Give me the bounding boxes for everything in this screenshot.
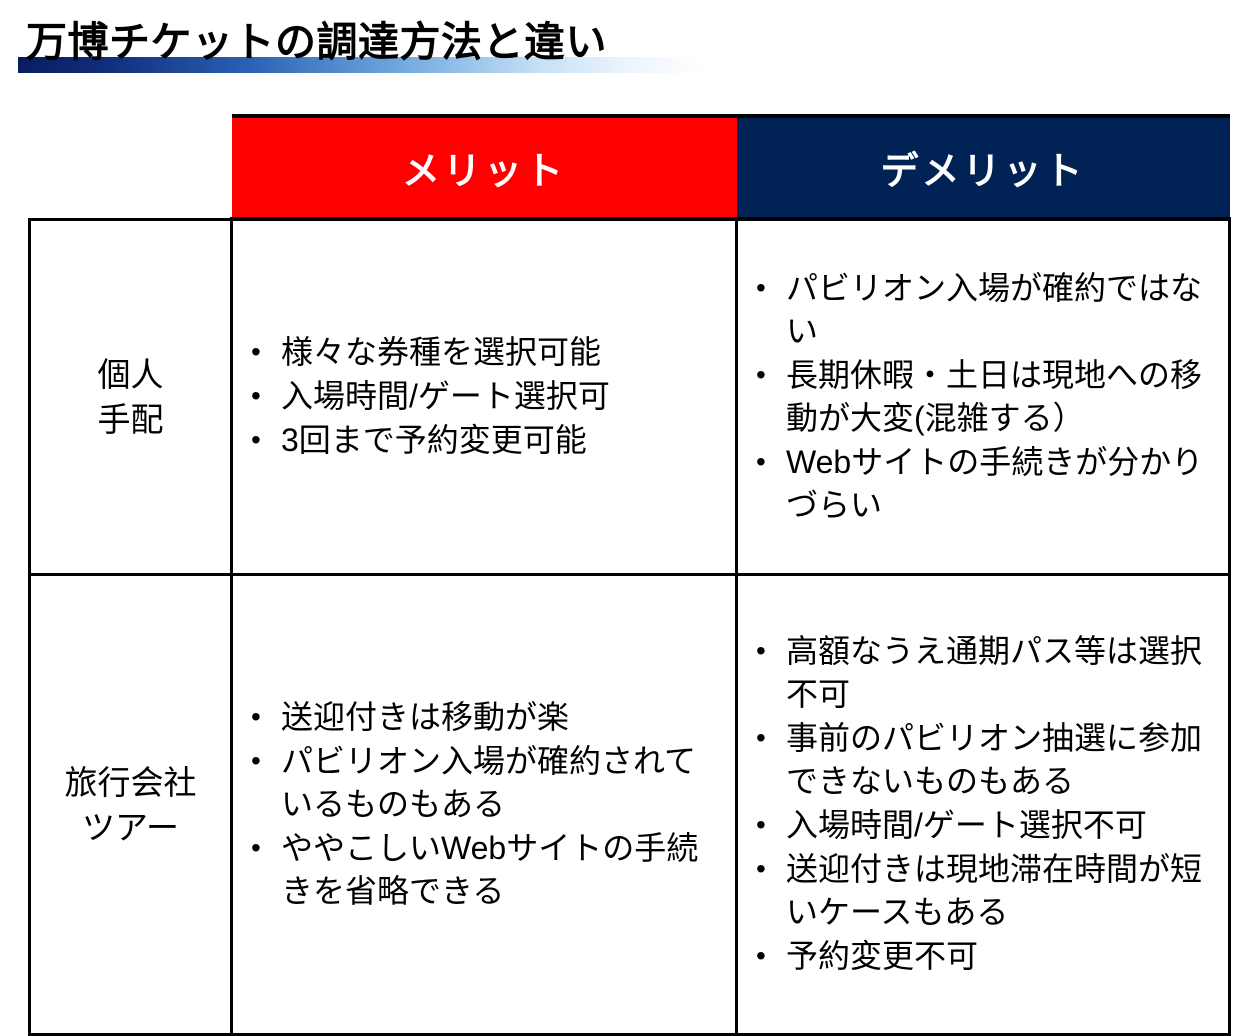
row-demerits-agency-tour: 高額なうえ通期パス等は選択不可 事前のパビリオン抽選に参加できないものもある 入… <box>737 575 1230 1035</box>
row-demerits-personal: パビリオン入場が確約ではない 長期休暇・土日は現地への移動が大変(混雑する） W… <box>737 219 1230 575</box>
slide-title-block: 万博チケットの調達方法と違い <box>0 0 1244 100</box>
list-item: 入場時間/ゲート選択不可 <box>752 804 1218 847</box>
row-merits-agency-tour: 送迎付きは移動が楽 パビリオン入場が確約されているものもある ややこしいWebサ… <box>232 575 737 1035</box>
list-item: 送迎付きは移動が楽 <box>247 696 725 739</box>
list-item: 高額なうえ通期パス等は選択不可 <box>752 630 1218 716</box>
list-item: ややこしいWebサイトの手続きを省略できる <box>247 827 725 913</box>
list-item: 長期休暇・土日は現地への移動が大変(混雑する） <box>752 354 1218 440</box>
list-item: Webサイトの手続きが分かりづらい <box>752 441 1218 527</box>
page-title: 万博チケットの調達方法と違い <box>26 18 607 66</box>
list-item: 送迎付きは現地滞在時間が短いケースもある <box>752 848 1218 934</box>
row-merits-personal: 様々な券種を選択可能 入場時間/ゲート選択可 3回まで予約変更可能 <box>232 219 737 575</box>
list-item: 入場時間/ゲート選択可 <box>247 375 725 418</box>
list-item: パビリオン入場が確約されているものもある <box>247 740 725 826</box>
table-row: 旅行会社 ツアー 送迎付きは移動が楽 パビリオン入場が確約されているものもある … <box>30 575 1230 1035</box>
row-label-personal: 個人 手配 <box>30 219 232 575</box>
row-label-agency-tour: 旅行会社 ツアー <box>30 575 232 1035</box>
list-item: 3回まで予約変更可能 <box>247 419 725 462</box>
header-blank-cell <box>30 116 232 219</box>
row-label-line: ツアー <box>31 805 230 850</box>
merit-bullet-list: 送迎付きは移動が楽 パビリオン入場が確約されているものもある ややこしいWebサ… <box>233 696 735 913</box>
row-label-line: 旅行会社 <box>31 760 230 805</box>
merit-bullet-list: 様々な券種を選択可能 入場時間/ゲート選択可 3回まで予約変更可能 <box>233 331 735 462</box>
table-row: 個人 手配 様々な券種を選択可能 入場時間/ゲート選択可 3回まで予約変更可能 … <box>30 219 1230 575</box>
list-item: 様々な券種を選択可能 <box>247 331 725 374</box>
row-label-line: 個人 <box>31 352 230 397</box>
list-item: 予約変更不可 <box>752 935 1218 978</box>
comparison-table: メリット デメリット 個人 手配 様々な券種を選択可能 入場時間/ゲート選択可 … <box>28 114 1231 1036</box>
list-item: 事前のパビリオン抽選に参加できないものもある <box>752 717 1218 803</box>
demerit-bullet-list: 高額なうえ通期パス等は選択不可 事前のパビリオン抽選に参加できないものもある 入… <box>738 630 1228 978</box>
header-merit-cell: メリット <box>232 116 737 219</box>
table-header-row: メリット デメリット <box>30 116 1230 219</box>
row-label-line: 手配 <box>31 397 230 442</box>
header-demerit-cell: デメリット <box>737 116 1230 219</box>
demerit-bullet-list: パビリオン入場が確約ではない 長期休暇・土日は現地への移動が大変(混雑する） W… <box>738 267 1228 527</box>
list-item: パビリオン入場が確約ではない <box>752 267 1218 353</box>
